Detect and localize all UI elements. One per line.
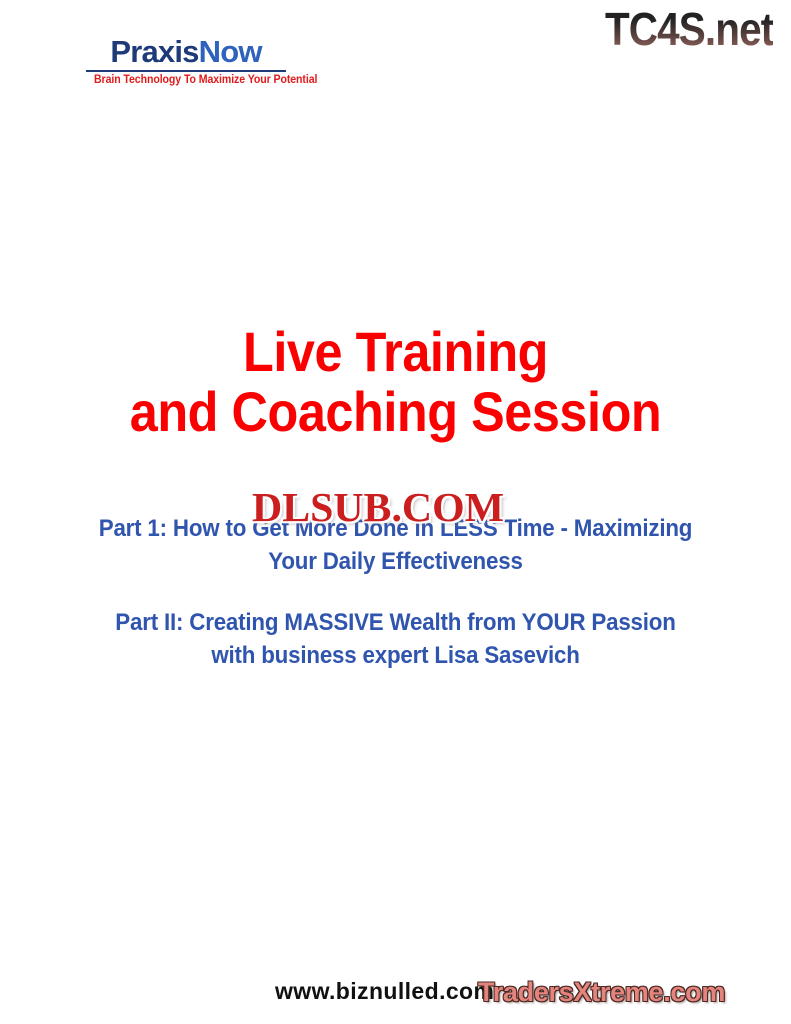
logo-word-praxis: Praxis [110,34,198,69]
document-page: PraxisNow Brain Technology To Maximize Y… [0,0,791,1024]
logo-divider-rule [86,70,286,72]
praxisnow-wordmark: PraxisNow [86,36,286,67]
tradersxtreme-watermark: TradersXtreme.com [478,977,725,1008]
logo-word-now: Now [199,34,262,69]
footer-url: www.biznulled.com [275,978,494,1005]
page-title-line-2: and Coaching Session [40,382,752,442]
session-part-two-line-2: with business expert Lisa Sasevich [28,639,764,672]
logo-tagline: Brain Technology To Maximize Your Potent… [94,75,278,87]
page-title: Live Training and Coaching Session [40,322,752,442]
session-part-two-line-1: Part II: Creating MASSIVE Wealth from YO… [28,606,764,639]
session-part-one-line-2: Your Daily Effectiveness [28,545,764,578]
praxisnow-logo: PraxisNow Brain Technology To Maximize Y… [86,36,286,87]
dlsub-watermark: DLSUB.COM [252,487,504,528]
page-title-line-1: Live Training [40,322,752,382]
session-part-two: Part II: Creating MASSIVE Wealth from YO… [28,606,764,672]
tc4s-site-mark: TC4S.net [605,2,773,56]
